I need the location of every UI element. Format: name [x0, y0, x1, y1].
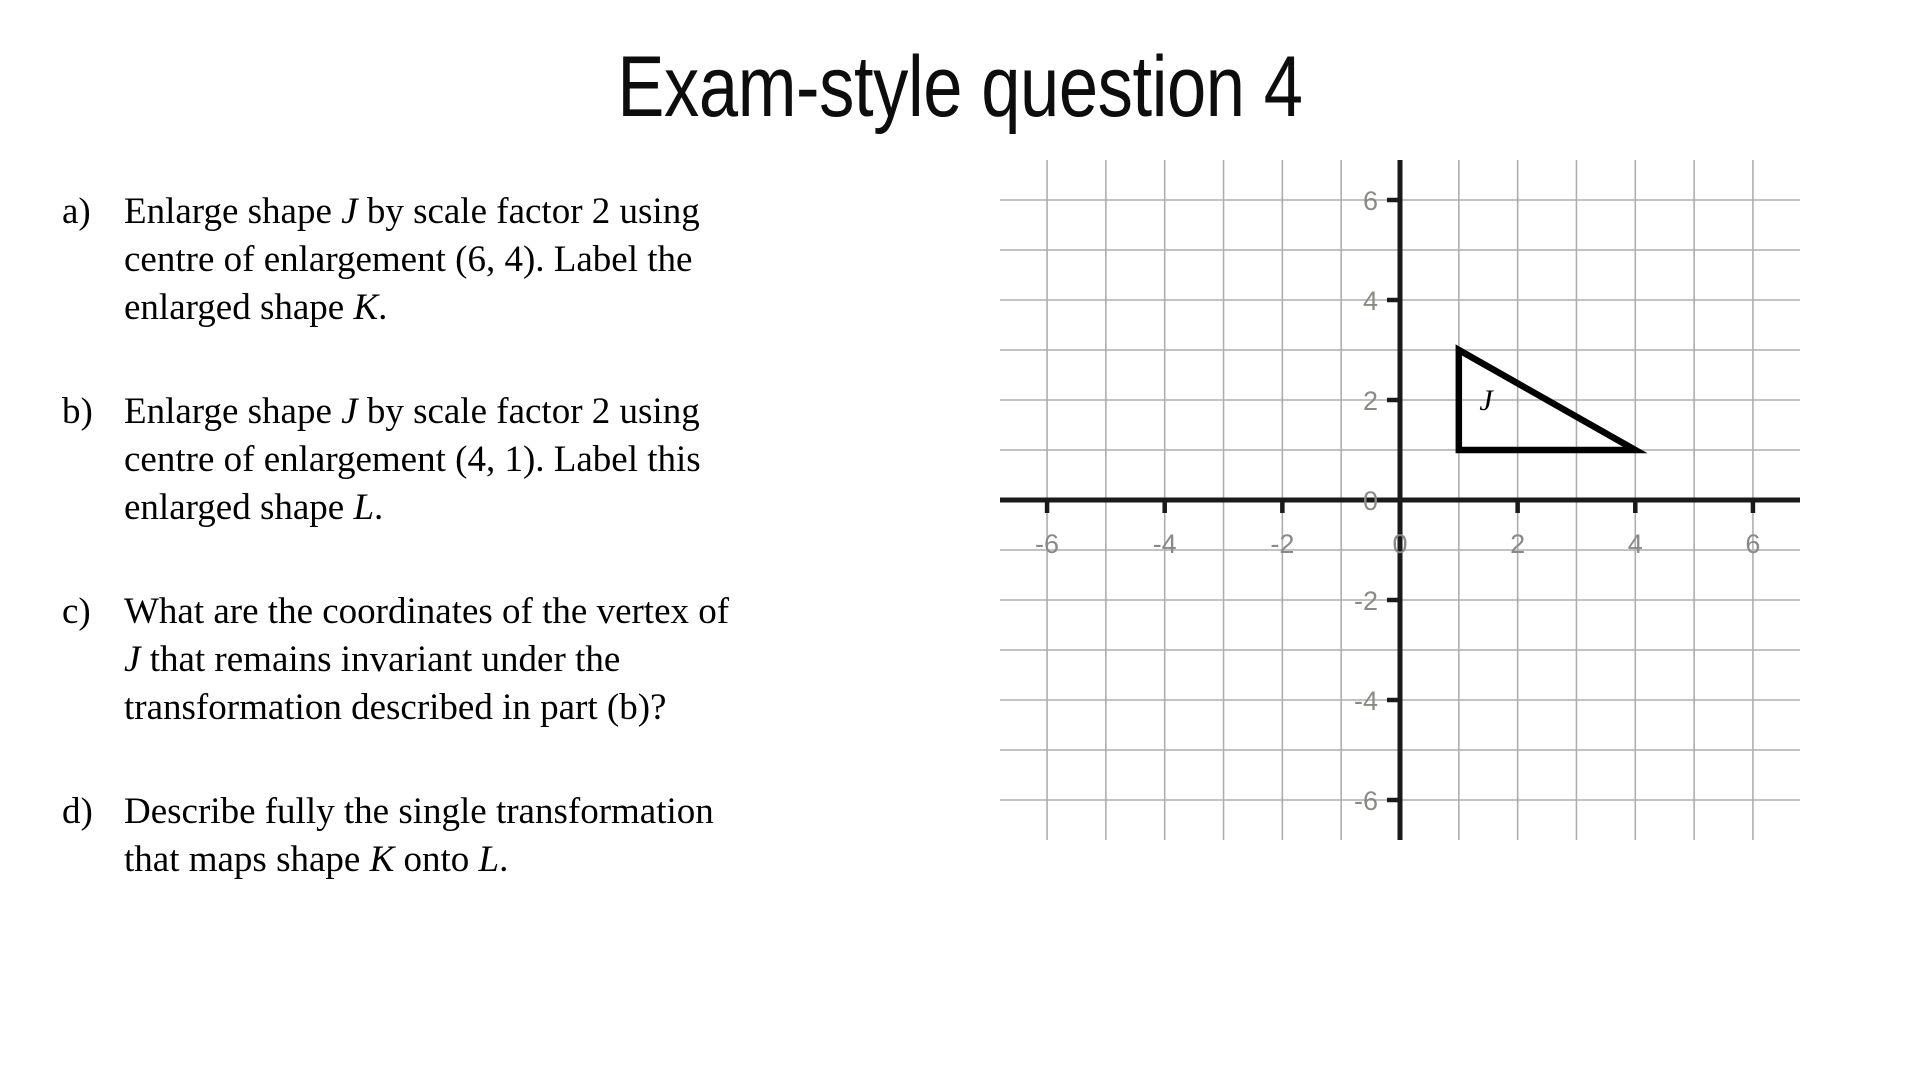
coordinate-grid: -6-4-20246-6-4-22460 J [1000, 160, 1800, 840]
question-line: Enlarge shape J by scale factor 2 using [124, 188, 822, 236]
question-line: transformation described in part (b)? [124, 684, 822, 732]
question-marker-b: b) [62, 388, 124, 436]
x-tick-label: 0 [1392, 529, 1407, 559]
x-tick-label: -4 [1153, 529, 1177, 559]
question-line: Enlarge shape J by scale factor 2 using [124, 388, 822, 436]
x-tick-label: 6 [1745, 529, 1760, 559]
coordinate-grid-svg: -6-4-20246-6-4-22460 J [1000, 160, 1800, 840]
x-tick-label: -2 [1270, 529, 1294, 559]
question-line: J that remains invariant under the [124, 636, 822, 684]
list-item: d) Describe fully the single transformat… [62, 788, 822, 884]
question-text-c: What are the coordinates of the vertex o… [124, 588, 822, 732]
y-tick-label: -6 [1354, 786, 1378, 816]
y-tick-label: 2 [1363, 386, 1378, 416]
question-text-b: Enlarge shape J by scale factor 2 using … [124, 388, 822, 532]
question-line: centre of enlargement (6, 4). Label the [124, 236, 822, 284]
list-item: b) Enlarge shape J by scale factor 2 usi… [62, 388, 822, 532]
y-tick-label: -4 [1354, 686, 1378, 716]
x-tick-label: 4 [1628, 529, 1643, 559]
question-line: that maps shape K onto L. [124, 836, 822, 884]
question-line: enlarged shape L. [124, 484, 822, 532]
y-tick-label: 4 [1363, 286, 1378, 316]
question-line: Describe fully the single transformation [124, 788, 822, 836]
page-title: Exam-style question 4 [173, 42, 1747, 132]
x-tick-label: -6 [1035, 529, 1059, 559]
y-tick-label: 6 [1363, 186, 1378, 216]
question-marker-a: a) [62, 188, 124, 236]
x-tick-label: 2 [1510, 529, 1525, 559]
question-marker-d: d) [62, 788, 124, 836]
list-item: c) What are the coordinates of the verte… [62, 588, 822, 732]
shape-label-J: J [1479, 384, 1494, 417]
y-tick-label: -2 [1354, 586, 1378, 616]
question-list: a) Enlarge shape J by scale factor 2 usi… [62, 188, 822, 884]
question-line: centre of enlargement (4, 1). Label this [124, 436, 822, 484]
question-line: enlarged shape K. [124, 284, 822, 332]
question-text-d: Describe fully the single transformation… [124, 788, 822, 884]
question-marker-c: c) [62, 588, 124, 636]
axes-group [1000, 160, 1800, 840]
list-item: a) Enlarge shape J by scale factor 2 usi… [62, 188, 822, 332]
question-line: What are the coordinates of the vertex o… [124, 588, 822, 636]
origin-tick-label: 0 [1363, 486, 1378, 516]
question-text-a: Enlarge shape J by scale factor 2 using … [124, 188, 822, 332]
slide: Exam-style question 4 a) Enlarge shape J… [0, 0, 1920, 1080]
